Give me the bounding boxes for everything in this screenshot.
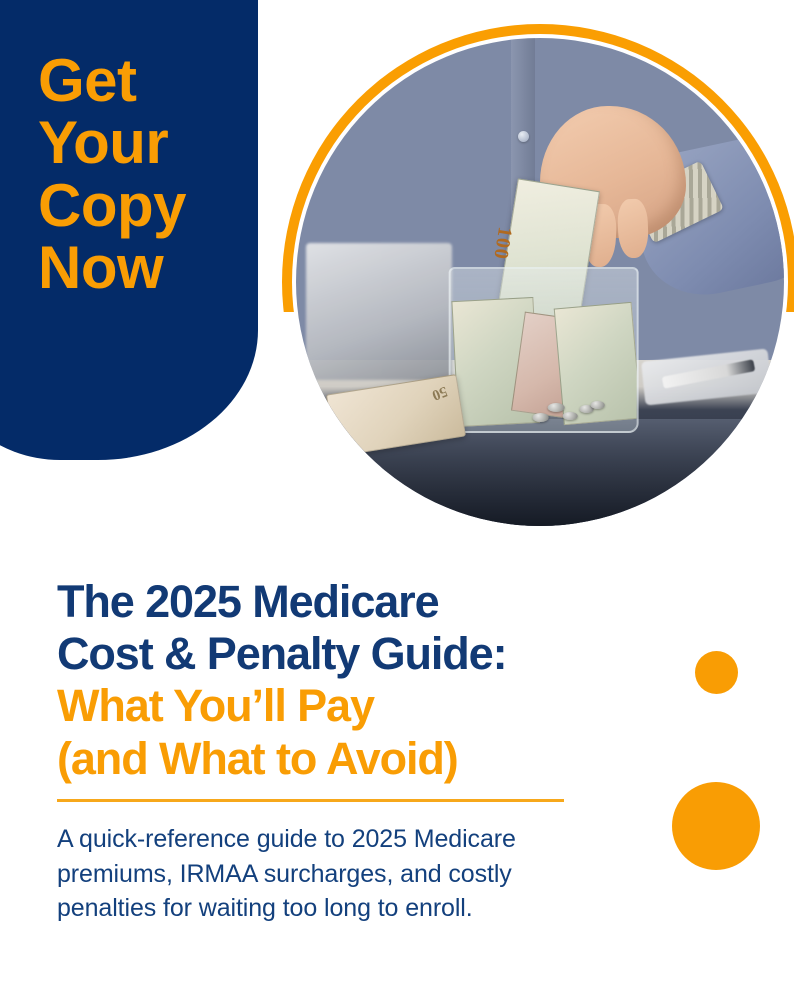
kicker-line-4: Now [38, 237, 238, 299]
decorative-dot-large [672, 782, 760, 870]
orange-divider [57, 799, 564, 802]
kicker-line-1: Get [38, 50, 238, 112]
headline-line-3: What You’ll Pay [57, 680, 697, 732]
page-title: The 2025 Medicare Cost & Penalty Guide: … [57, 576, 697, 785]
photo-finger [617, 199, 649, 259]
headline-line-4: (and What to Avoid) [57, 733, 697, 785]
kicker-heading: Get Your Copy Now [38, 50, 238, 300]
headline-line-1: The 2025 Medicare [57, 576, 697, 628]
photo-shirt-button [518, 131, 529, 142]
kicker-line-2: Your [38, 112, 238, 174]
poster-canvas: Get Your Copy Now The 2025 Medicare Cost… [0, 0, 794, 1000]
hero-image-block [258, 0, 794, 560]
decorative-dot-small [695, 651, 738, 694]
photo-money-jar [449, 267, 639, 433]
subtitle-blurb: A quick-reference guide to 2025 Medicare… [57, 822, 617, 926]
photo-laptop [306, 243, 452, 380]
photo-coin [590, 401, 604, 408]
photo-coin [533, 413, 549, 422]
photo-coin [562, 412, 578, 420]
kicker-line-3: Copy [38, 175, 238, 237]
headline-line-2: Cost & Penalty Guide: [57, 628, 697, 680]
savings-jar-photo [296, 38, 784, 526]
